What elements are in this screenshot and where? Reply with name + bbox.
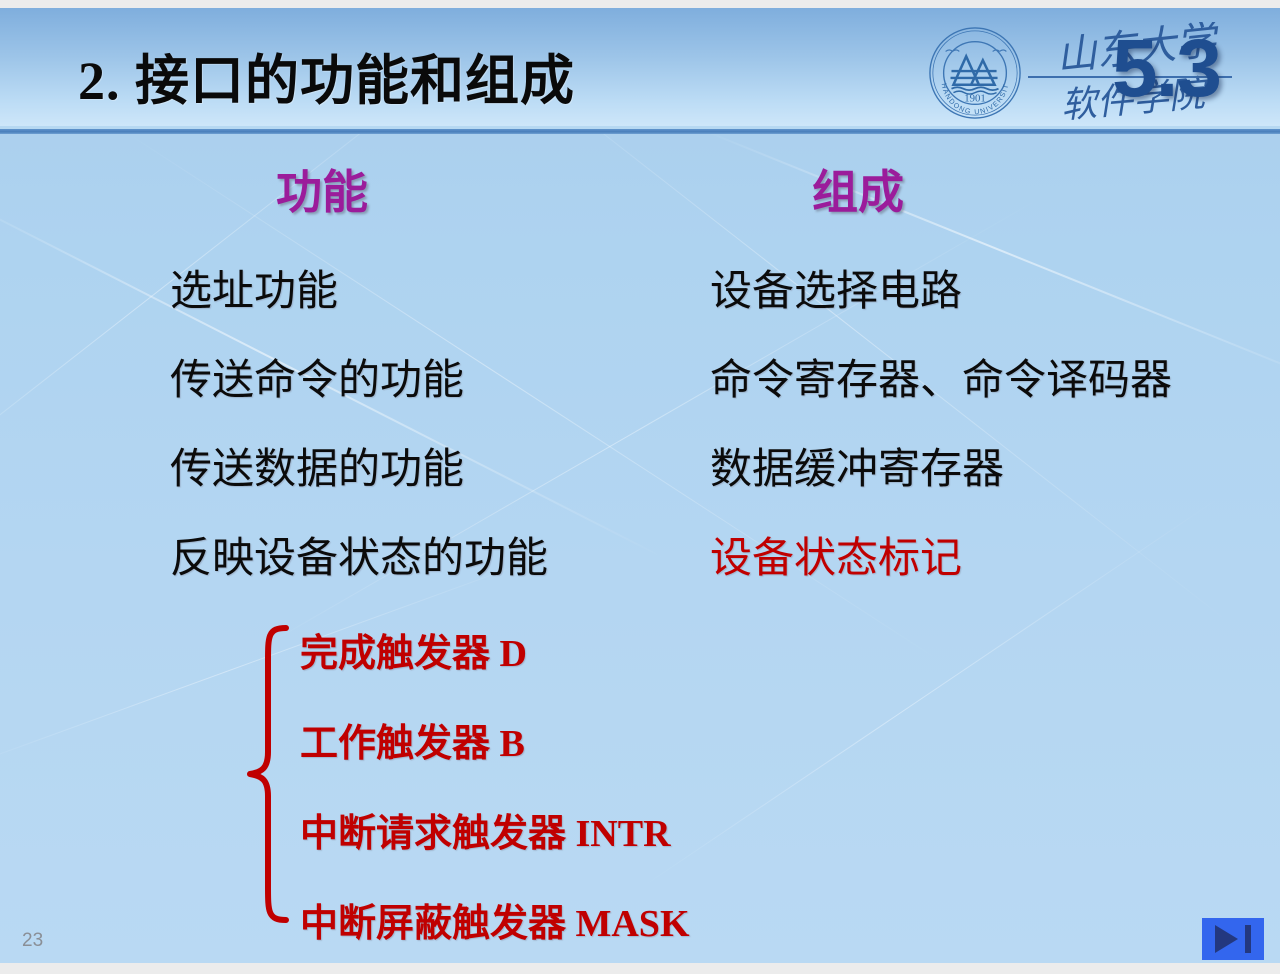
seal-year: 1901 [964,92,986,104]
composition-item: 设备选择电路 [710,257,962,318]
play-triangle-icon [1215,925,1238,953]
flipflop-item: 完成触发器 D [300,622,527,677]
function-item: 传送命令的功能 [170,346,464,407]
function-item: 传送数据的功能 [170,435,464,496]
column-heading-composition: 组成 [812,156,904,222]
composition-item: 数据缓冲寄存器 [710,435,1004,496]
top-margin-strip [0,0,1280,8]
presentation-slide: 2. 接口的功能和组成 1901 SHANDONG UNIVERSITY [0,0,1280,974]
function-item: 反映设备状态的功能 [170,524,548,585]
header-divider-rule [0,129,1280,134]
column-heading-function: 功能 [276,156,368,222]
flipflop-item: 工作触发器 B [300,712,525,767]
composition-item: 命令寄存器、命令译码器 [710,346,1172,407]
flipflop-item: 中断屏蔽触发器 MASK [300,892,690,947]
curly-brace-icon [246,622,290,926]
shandong-university-seal-icon: 1901 SHANDONG UNIVERSITY [926,24,1024,122]
skip-bar-icon [1245,925,1251,953]
slide-title: 2. 接口的功能和组成 [78,36,575,115]
function-item: 选址功能 [170,257,338,318]
composition-item-highlighted: 设备状态标记 [710,524,962,585]
bottom-margin-strip [0,963,1280,974]
next-slide-button[interactable] [1202,918,1264,960]
flipflop-item: 中断请求触发器 INTR [300,802,671,857]
section-number: 5.3 [1112,28,1220,110]
page-number: 23 [22,930,43,952]
